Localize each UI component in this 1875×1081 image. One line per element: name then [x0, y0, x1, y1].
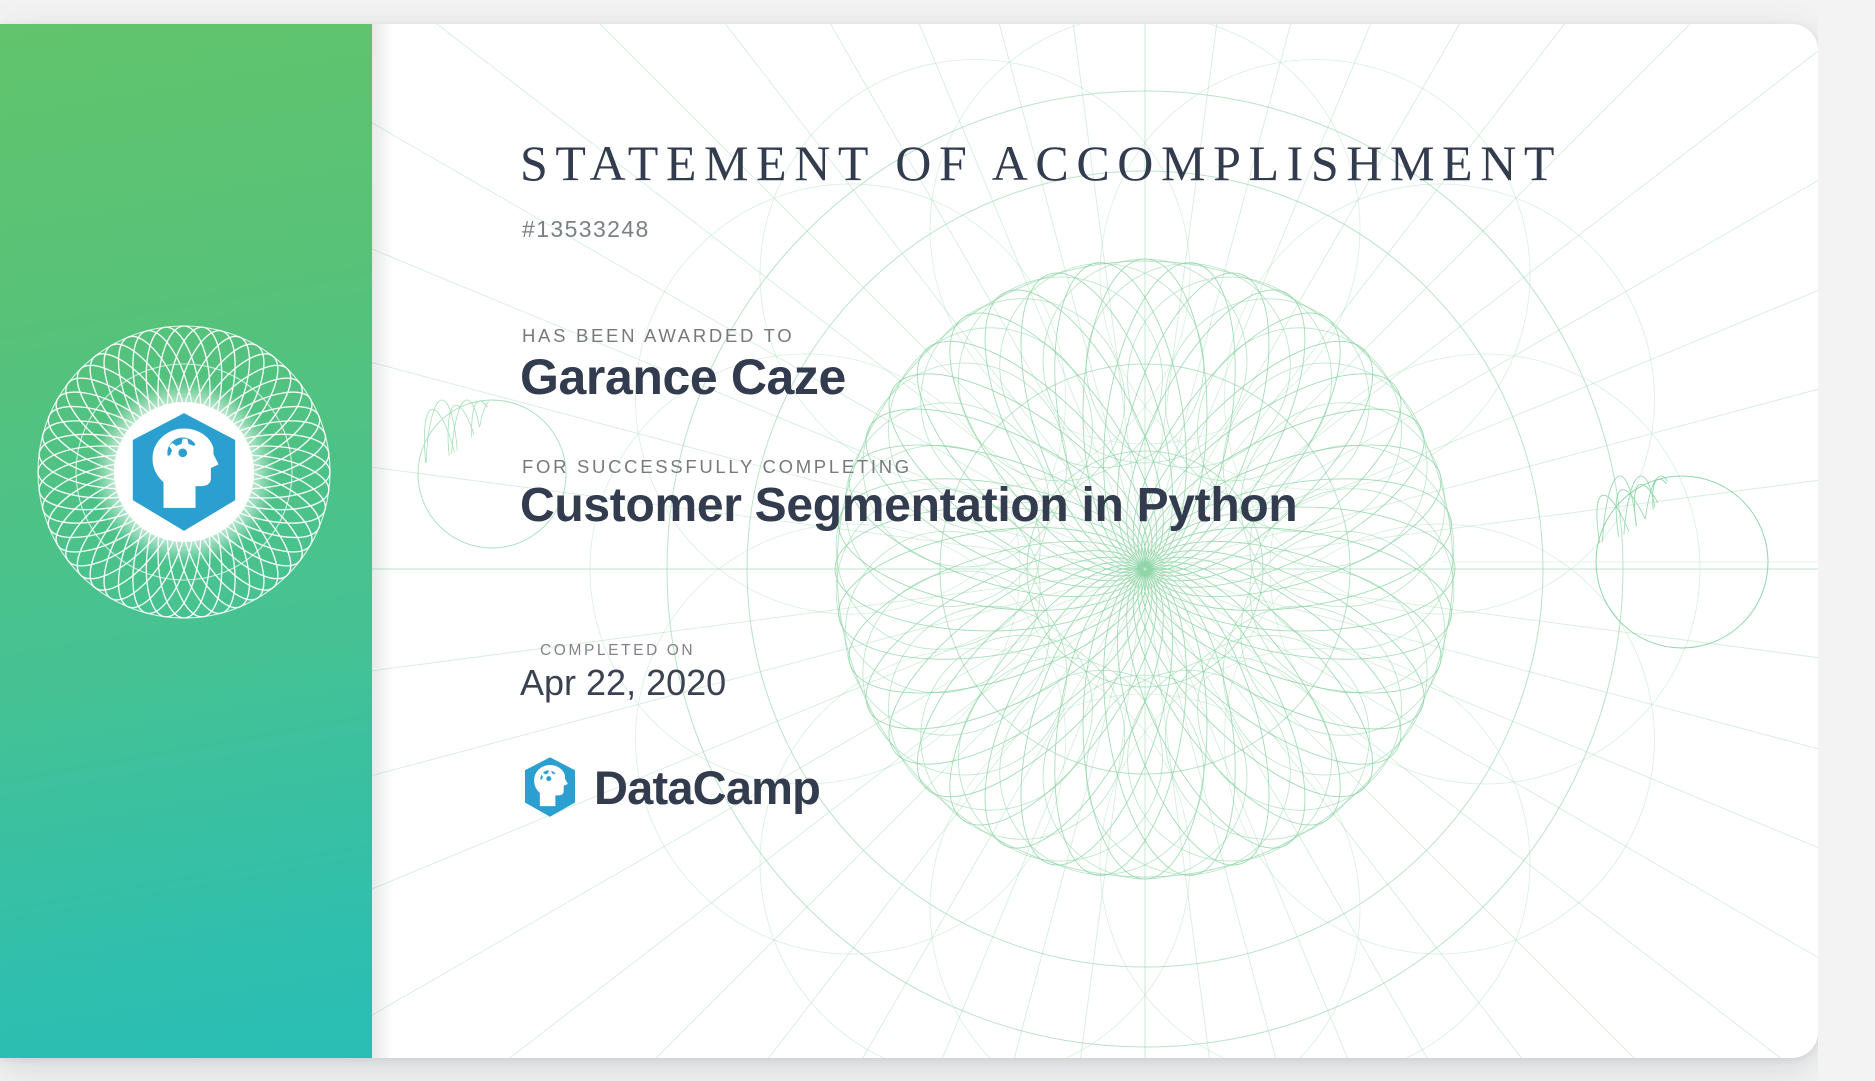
- course-title: Customer Segmentation in Python: [520, 478, 1297, 533]
- completed-date: Apr 22, 2020: [520, 662, 726, 704]
- certificate-content: STATEMENT OF ACCOMPLISHMENT #13533248 HA…: [520, 48, 1770, 1058]
- certificate-seal: [36, 324, 332, 620]
- awarded-to-label: HAS BEEN AWARDED TO: [522, 325, 794, 347]
- certificate-card: STATEMENT OF ACCOMPLISHMENT #13533248 HA…: [0, 0, 1818, 1081]
- rail-shadow: [372, 24, 394, 1058]
- completing-label: FOR SUCCESSFULLY COMPLETING: [522, 456, 912, 478]
- datacamp-logo-lockup: DataCamp: [522, 756, 820, 818]
- completed-on-label: COMPLETED ON: [540, 642, 695, 660]
- brand-wordmark: DataCamp: [594, 764, 820, 811]
- datacamp-shield-head-gear-icon: [522, 756, 578, 818]
- recipient-name: Garance Caze: [520, 348, 846, 406]
- page-title: STATEMENT OF ACCOMPLISHMENT: [520, 134, 1562, 192]
- certificate-id: #13533248: [522, 216, 650, 243]
- certificate-card-surface: STATEMENT OF ACCOMPLISHMENT #13533248 HA…: [0, 24, 1818, 1058]
- certificate-page: STATEMENT OF ACCOMPLISHMENT #13533248 HA…: [0, 0, 1875, 1081]
